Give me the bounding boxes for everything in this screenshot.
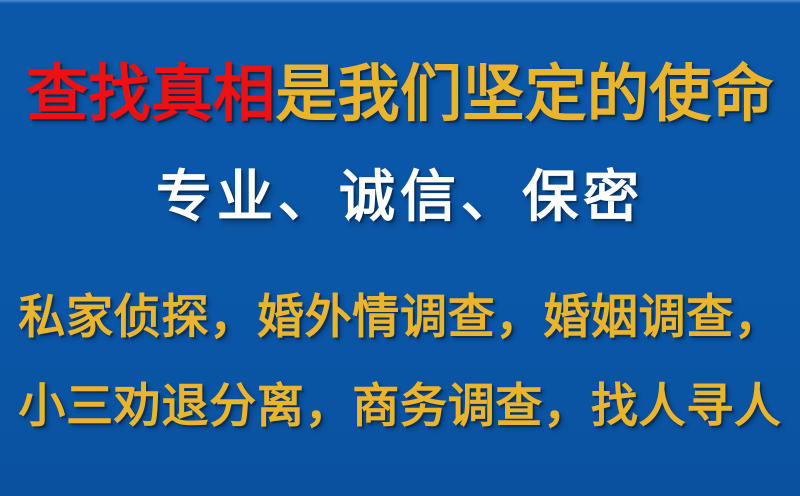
headline-remainder: 是我们坚定的使命 — [275, 57, 773, 130]
slogan-text: 专业、诚信、保密 — [0, 158, 800, 236]
advertisement-banner: 查找真相是我们坚定的使命 专业、诚信、保密 私家侦探，婚外情调查，婚姻调查， 小… — [0, 0, 800, 496]
top-edge-highlight — [0, 0, 800, 3]
services-line-two: 小三劝退分离，商务调查，找人寻人 — [0, 375, 800, 439]
services-line-one: 私家侦探，婚外情调查，婚姻调查， — [0, 286, 800, 350]
headline-emphasis: 查找真相 — [26, 57, 275, 130]
headline-text: 查找真相是我们坚定的使命 — [0, 56, 800, 132]
